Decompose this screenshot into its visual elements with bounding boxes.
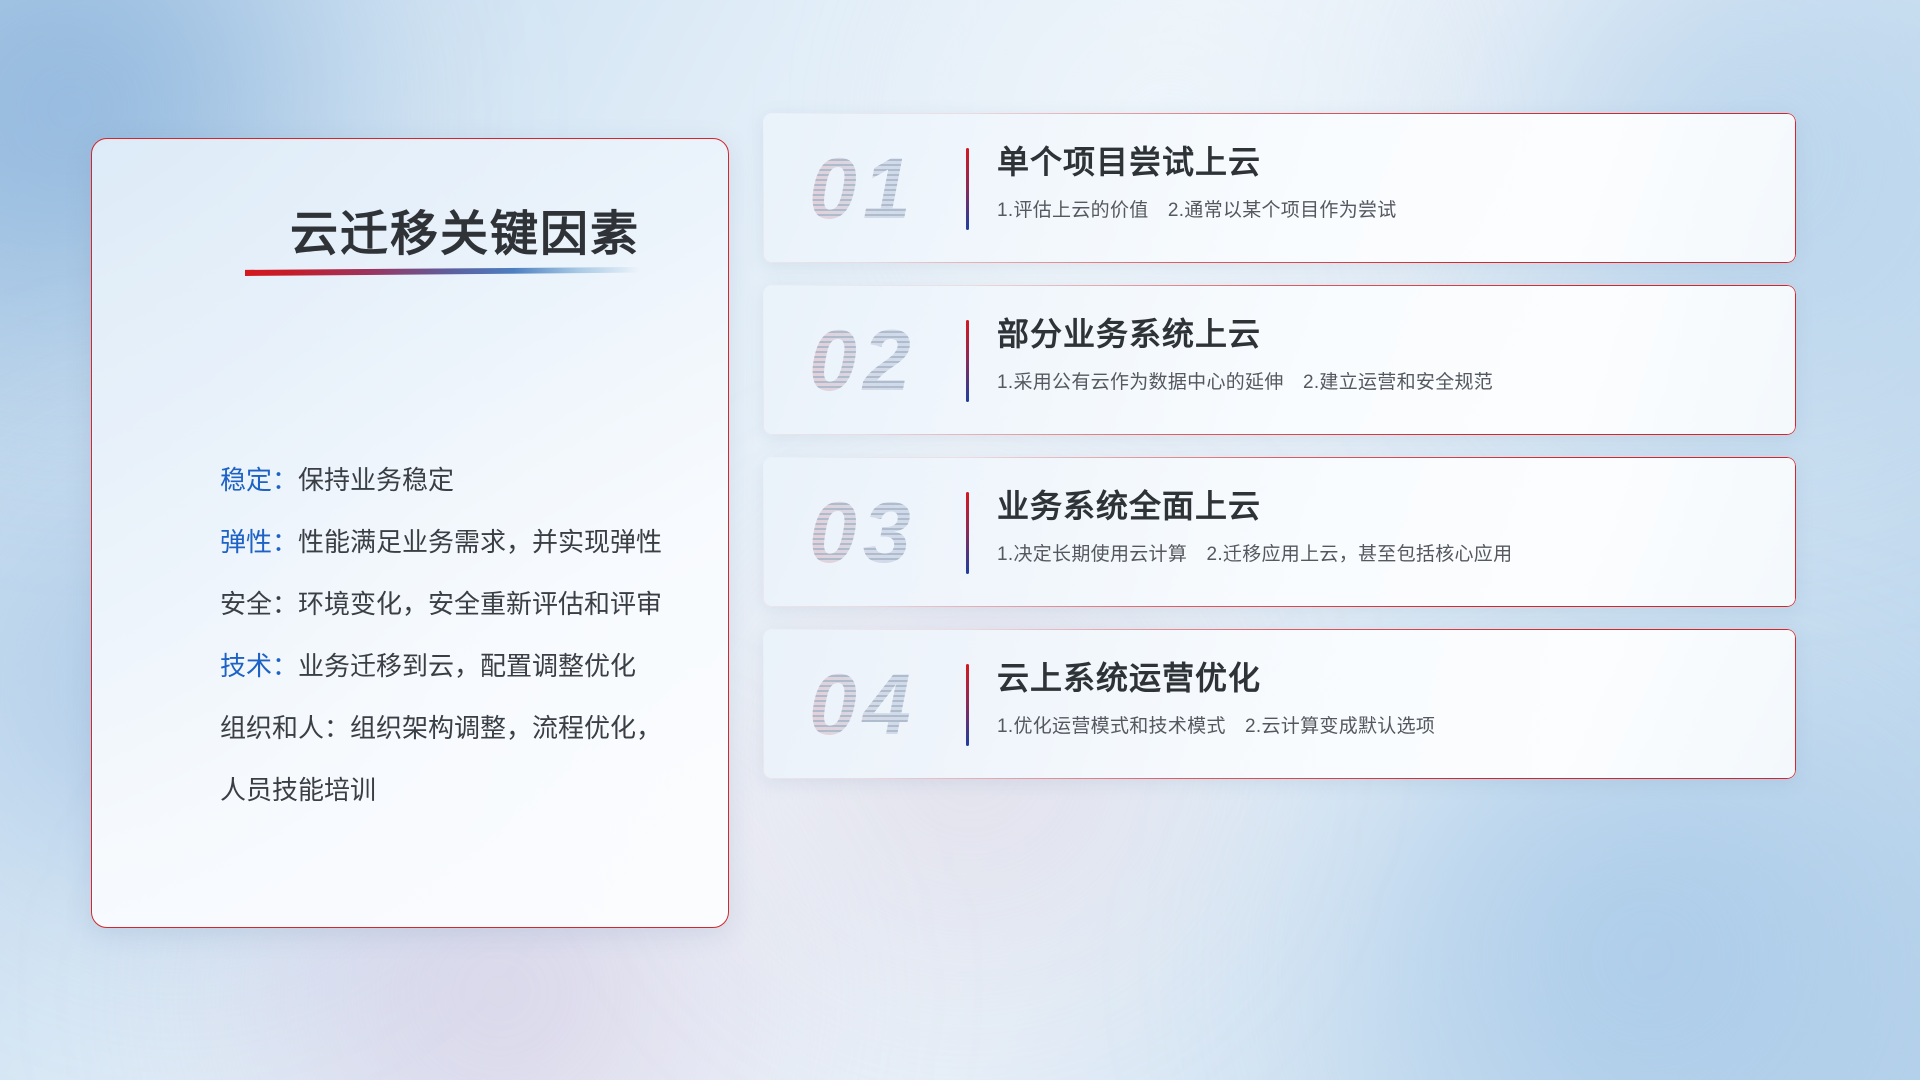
factor-row: 弹性：性能满足业务需求，并实现弹性: [220, 511, 690, 573]
factor-label: 技术：: [220, 651, 298, 681]
accent-bar: [966, 320, 969, 402]
migration-stage-cards: 01单个项目尝试上云1.评估上云的价值 2.通常以某个项目作为尝试02部分业务系…: [763, 0, 1823, 1080]
stage-title: 业务系统全面上云: [997, 483, 1772, 529]
stage-number: 03: [809, 483, 999, 583]
page-title: 云迁移关键因素: [290, 194, 640, 264]
accent-bar: [966, 664, 969, 746]
stage-number: 04: [809, 655, 999, 755]
factor-text: 环境变化，安全重新评估和评审: [298, 589, 662, 619]
factor-text: 性能满足业务需求，并实现弹性: [298, 527, 662, 557]
stage-card-body: 云上系统运营优化1.优化运营模式和技术模式 2.云计算变成默认选项: [997, 655, 1772, 741]
accent-bar: [966, 148, 969, 230]
slide-stage: 云迁移关键因素 稳定：保持业务稳定弹性：性能满足业务需求，并实现弹性安全：环境变…: [0, 0, 1920, 1080]
factor-text: 保持业务稳定: [298, 465, 454, 495]
key-factors-panel: 云迁移关键因素 稳定：保持业务稳定弹性：性能满足业务需求，并实现弹性安全：环境变…: [91, 138, 729, 928]
stage-title: 云上系统运营优化: [997, 655, 1772, 701]
key-factors-list: 稳定：保持业务稳定弹性：性能满足业务需求，并实现弹性安全：环境变化，安全重新评估…: [220, 449, 690, 821]
factor-row: 技术：业务迁移到云，配置调整优化: [220, 635, 690, 697]
factor-label: 稳定：: [220, 465, 298, 495]
stage-card[interactable]: 03业务系统全面上云1.决定长期使用云计算 2.迁移应用上云，甚至包括核心应用: [763, 457, 1796, 607]
stage-number: 01: [809, 139, 999, 239]
factor-text: 人员技能培训: [220, 775, 376, 805]
accent-bar: [966, 492, 969, 574]
stage-number: 02: [809, 311, 999, 411]
factor-row: 安全：环境变化，安全重新评估和评审: [220, 573, 690, 635]
factor-row: 稳定：保持业务稳定: [220, 449, 690, 511]
stage-subtitle: 1.优化运营模式和技术模式 2.云计算变成默认选项: [997, 713, 1772, 741]
factor-label: 弹性：: [220, 527, 298, 557]
stage-card-body: 业务系统全面上云1.决定长期使用云计算 2.迁移应用上云，甚至包括核心应用: [997, 483, 1772, 569]
factor-text: 组织架构调整，流程优化，: [350, 713, 662, 743]
title-underline-rule: [245, 267, 640, 276]
factor-label: 组织和人：: [220, 713, 350, 743]
stage-card-body: 单个项目尝试上云1.评估上云的价值 2.通常以某个项目作为尝试: [997, 139, 1772, 225]
stage-title: 部分业务系统上云: [997, 311, 1772, 357]
stage-subtitle: 1.评估上云的价值 2.通常以某个项目作为尝试: [997, 197, 1772, 225]
stage-card[interactable]: 01单个项目尝试上云1.评估上云的价值 2.通常以某个项目作为尝试: [763, 113, 1796, 263]
factor-text: 业务迁移到云，配置调整优化: [298, 651, 636, 681]
stage-card[interactable]: 04云上系统运营优化1.优化运营模式和技术模式 2.云计算变成默认选项: [763, 629, 1796, 779]
factor-row: 人员技能培训: [220, 759, 690, 821]
stage-subtitle: 1.决定长期使用云计算 2.迁移应用上云，甚至包括核心应用: [997, 541, 1772, 569]
factor-label: 安全：: [220, 589, 298, 619]
stage-subtitle: 1.采用公有云作为数据中心的延伸 2.建立运营和安全规范: [997, 369, 1772, 397]
stage-card[interactable]: 02部分业务系统上云1.采用公有云作为数据中心的延伸 2.建立运营和安全规范: [763, 285, 1796, 435]
stage-title: 单个项目尝试上云: [997, 139, 1772, 185]
factor-row: 组织和人：组织架构调整，流程优化，: [220, 697, 690, 759]
stage-card-body: 部分业务系统上云1.采用公有云作为数据中心的延伸 2.建立运营和安全规范: [997, 311, 1772, 397]
